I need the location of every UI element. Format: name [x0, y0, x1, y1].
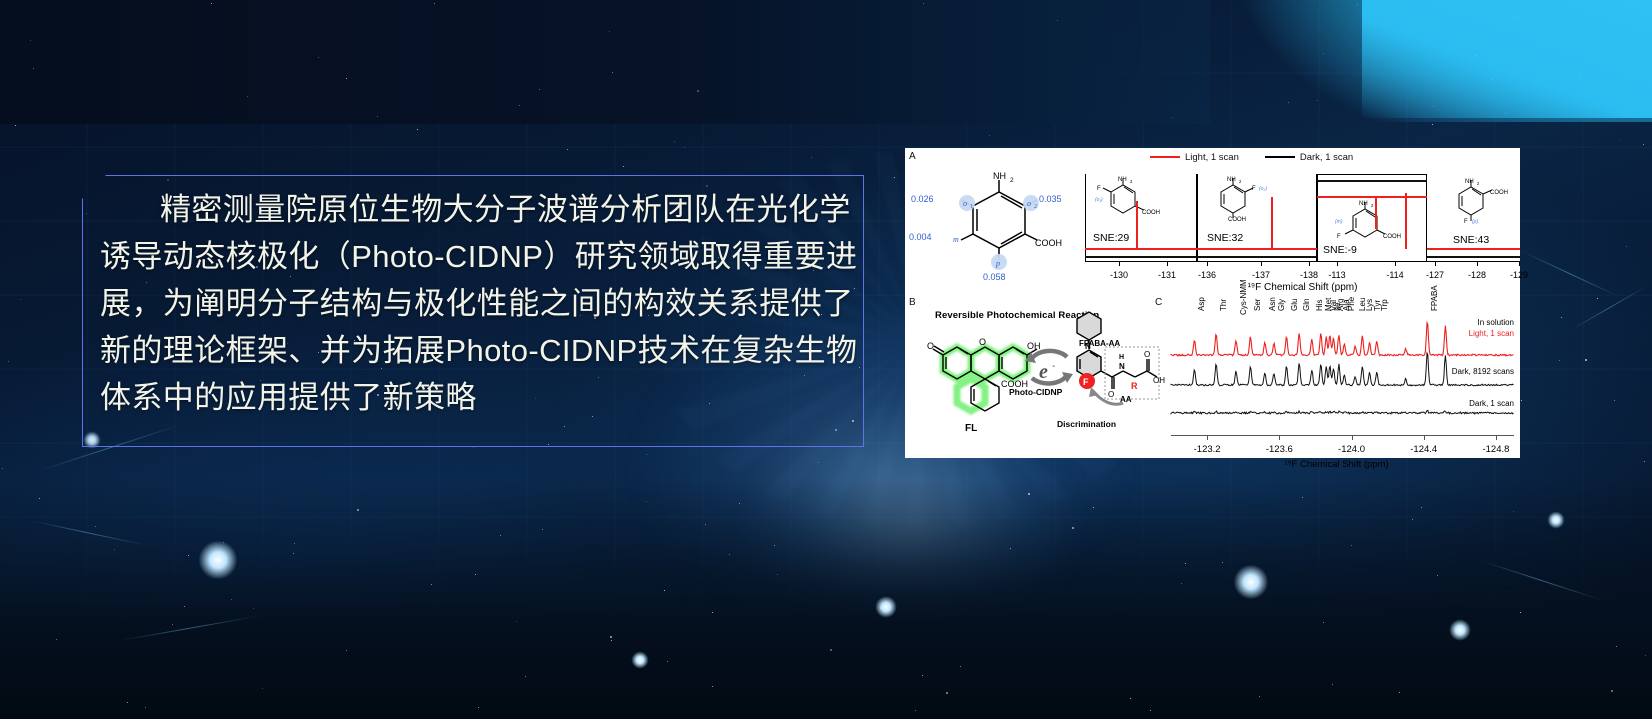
glow-star — [871, 592, 901, 622]
svg-text:2: 2 — [1034, 204, 1037, 210]
svg-text:O: O — [1144, 350, 1150, 359]
c-tick-label-3: -124.4 — [1410, 444, 1437, 455]
star — [516, 621, 517, 622]
star — [56, 639, 57, 640]
star — [1645, 655, 1646, 656]
glow-star — [1445, 615, 1475, 645]
star — [33, 68, 34, 69]
star — [697, 90, 699, 92]
star — [1010, 548, 1011, 549]
star — [431, 584, 432, 585]
star — [811, 157, 812, 158]
svg-text:2: 2 — [1239, 179, 1242, 184]
star — [1259, 696, 1260, 697]
star — [667, 661, 668, 662]
star — [623, 166, 624, 167]
star — [127, 702, 128, 703]
sne-value-o2: SNE:32 — [1207, 232, 1243, 244]
fl-label: FL — [965, 423, 977, 434]
star — [705, 524, 706, 525]
svg-text:(o₁): (o₁) — [1095, 197, 1103, 203]
tick-p-2: -129 — [1510, 270, 1528, 280]
star — [346, 650, 347, 651]
star — [712, 686, 713, 687]
fpaba-aa-molecule: N O N H O OH F R — [1065, 307, 1161, 427]
network-line — [30, 520, 148, 546]
svg-text:o: o — [1027, 199, 1031, 208]
star — [1614, 400, 1615, 401]
star — [262, 688, 263, 689]
tick-p-0: -127 — [1426, 270, 1444, 280]
star — [211, 3, 212, 4]
star — [1513, 511, 1514, 512]
star — [1475, 55, 1476, 56]
star — [674, 141, 675, 142]
glow-star — [191, 533, 245, 587]
page-title: 精密测量院原位生物大分子波谱分析团队在光化学诱导动态核极化（Photo-CIDN… — [100, 186, 860, 421]
panel-c-axis — [1171, 435, 1514, 436]
star — [610, 636, 612, 638]
trace-dark-1scan — [1171, 410, 1513, 414]
svg-text:COOH: COOH — [1035, 238, 1062, 248]
svg-text:2: 2 — [1130, 179, 1133, 184]
network-line — [1520, 250, 1620, 297]
hyperfine-o2: 0.035 — [1039, 194, 1062, 204]
star — [684, 147, 685, 148]
glow-star — [628, 648, 652, 672]
star — [39, 498, 40, 499]
star — [1433, 106, 1434, 107]
svg-text:(m): (m) — [1335, 219, 1343, 225]
star — [989, 135, 990, 136]
svg-text:e: e — [1039, 361, 1048, 383]
star — [567, 149, 568, 150]
star — [1561, 317, 1562, 318]
star — [1351, 545, 1352, 546]
star — [712, 612, 713, 613]
legend-dark: Dark, 1 scan — [1265, 152, 1353, 163]
star — [818, 462, 819, 463]
hyperfine-o1: 0.026 — [911, 194, 934, 204]
star — [1222, 562, 1223, 563]
legend-dark-swatch — [1265, 156, 1295, 158]
star — [478, 707, 479, 708]
svg-text:O: O — [1108, 390, 1114, 399]
star — [1323, 53, 1324, 54]
sne-value-o1: SNE:29 — [1093, 232, 1129, 244]
network-line — [1480, 560, 1604, 601]
star — [346, 78, 347, 79]
star — [922, 675, 923, 676]
panel-c: C AspThrCys-NMMSerAsnGlyGluGlnHisMetValI… — [1153, 295, 1520, 458]
star — [1130, 698, 1131, 699]
fpaba-aa-label: FPABA-AA — [1079, 339, 1120, 348]
svg-text:H: H — [1119, 354, 1124, 361]
glow-star — [1227, 558, 1275, 606]
star — [1332, 684, 1333, 685]
photo-cidnp-label: Photo-CIDNP — [1009, 387, 1062, 397]
spectrum-o1: NH2 F (o₁) COOH SNE:29 -130 -131 — [1085, 174, 1197, 280]
star — [646, 454, 647, 455]
star — [739, 503, 740, 504]
figure-panel: A Light, 1 scan Dark, 1 scan — [905, 148, 1520, 458]
star — [664, 590, 665, 591]
svg-text:R: R — [1131, 381, 1138, 391]
panel-a: A Light, 1 scan Dark, 1 scan — [905, 148, 1520, 295]
star — [15, 125, 16, 126]
star — [1399, 692, 1400, 693]
star — [172, 624, 173, 625]
c-tick-label-4: -124.8 — [1482, 444, 1509, 455]
star — [188, 555, 189, 556]
star — [184, 606, 185, 607]
tick-o1-1: -131 — [1158, 270, 1176, 280]
panel-c-label: C — [1155, 297, 1162, 308]
star — [830, 649, 832, 651]
panel-c-axis-title: ¹⁹F Chemical Shift (ppm) — [1153, 459, 1520, 470]
sne-value-p: SNE:43 — [1453, 234, 1489, 246]
star — [231, 599, 232, 600]
star — [475, 574, 476, 575]
c-tick-label-2: -124.0 — [1338, 444, 1365, 455]
spectrum-m: NH2 (m) F COOH SNE:-9 -113 -114 — [1317, 174, 1427, 280]
glow-star — [1544, 508, 1568, 532]
svg-text:NH: NH — [1227, 177, 1236, 183]
svg-text:-: - — [1052, 361, 1055, 372]
tick-m-1: -114 — [1386, 270, 1403, 280]
network-line — [120, 616, 258, 641]
star — [1072, 527, 1074, 529]
svg-text:2: 2 — [1477, 181, 1480, 186]
svg-text:O: O — [927, 341, 934, 351]
star — [1580, 74, 1581, 75]
star — [1514, 16, 1515, 17]
star — [357, 509, 359, 511]
star — [20, 299, 21, 300]
legend-light-1scan: Light, 1 scan — [1469, 328, 1514, 339]
trace-light-1scan — [1171, 323, 1513, 356]
star — [1437, 575, 1438, 576]
svg-text:COOH: COOH — [1490, 190, 1508, 196]
hyperfine-p: 0.058 — [983, 272, 1006, 282]
star — [8, 361, 9, 362]
star — [542, 529, 543, 530]
star — [777, 574, 778, 575]
c-tick-label-1: -123.6 — [1266, 444, 1293, 455]
star — [473, 447, 474, 448]
star — [253, 608, 254, 609]
spectrum-o2: NH2 F (o₂) COOH SNE:32 -136 -137 -138 — [1197, 174, 1317, 280]
aa-label: AA — [1120, 395, 1132, 404]
panel-b-label: B — [909, 297, 916, 308]
c-tick-2 — [1352, 435, 1353, 440]
legend-dark-label: Dark, 1 scan — [1300, 152, 1353, 163]
star — [1317, 100, 1318, 101]
star — [1559, 360, 1560, 361]
star — [1492, 79, 1493, 80]
star — [2, 468, 3, 469]
svg-text:(p): (p) — [1472, 219, 1478, 225]
star — [1323, 622, 1324, 623]
spectrum-p: NH2 COOH F (p) SNE:43 -127 -128 -129 — [1427, 174, 1520, 280]
star — [1302, 497, 1303, 498]
tick-o1-0: -130 — [1110, 270, 1128, 280]
legend-light: Light, 1 scan — [1150, 152, 1239, 163]
svg-text:F: F — [1097, 186, 1101, 192]
svg-text:NH: NH — [993, 171, 1006, 181]
star — [1520, 612, 1521, 613]
star — [1093, 507, 1094, 508]
c-tick-1 — [1279, 435, 1280, 440]
svg-text:NH: NH — [1465, 179, 1474, 185]
banner-stage: 精密测量院原位生物大分子波谱分析团队在光化学诱导动态核极化（Photo-CIDN… — [0, 0, 1652, 719]
panel-a-legend: Light, 1 scan Dark, 1 scan — [1150, 152, 1353, 163]
c-tick-3 — [1424, 435, 1425, 440]
tick-p-1: -128 — [1468, 270, 1486, 280]
c-tick-0 — [1207, 435, 1208, 440]
star — [1644, 461, 1645, 462]
sne-value-m: SNE:-9 — [1323, 244, 1357, 256]
star — [612, 72, 613, 73]
star — [1181, 583, 1182, 584]
star — [1028, 493, 1030, 495]
star — [1611, 690, 1613, 692]
star — [1412, 519, 1413, 520]
legend-dark-1scan: Dark, 1 scan — [1469, 399, 1514, 408]
star — [946, 692, 948, 694]
star — [611, 640, 612, 641]
star — [293, 553, 294, 554]
star — [377, 116, 378, 117]
star — [145, 707, 146, 708]
svg-text:(o₂): (o₂) — [1259, 186, 1267, 192]
svg-text:o: o — [963, 199, 967, 208]
panel-c-legend: In solution Light, 1 scan — [1469, 317, 1514, 339]
star — [500, 535, 501, 536]
hyperfine-m: 0.004 — [909, 232, 932, 242]
legend-dark-8192: Dark, 8192 scans — [1452, 367, 1514, 376]
tick-o2-0: -136 — [1198, 270, 1216, 280]
star — [1150, 710, 1151, 711]
svg-text:p: p — [995, 259, 1000, 268]
svg-text:O: O — [979, 337, 986, 347]
star — [434, 3, 435, 4]
c-tick-label-0: -123.2 — [1194, 444, 1221, 455]
svg-text:COOH: COOH — [1228, 217, 1246, 223]
star — [894, 177, 895, 178]
star — [1597, 298, 1598, 299]
svg-text:F: F — [1337, 234, 1341, 240]
star — [609, 31, 610, 32]
star — [30, 40, 31, 41]
star — [960, 666, 961, 667]
star — [1057, 20, 1058, 21]
star — [1432, 124, 1433, 125]
star — [539, 89, 540, 90]
star — [1172, 117, 1173, 118]
star — [1521, 400, 1522, 401]
aminobenzoic-molecule: NH 2 COOH o 1 o 2 m p 0.026 0.035 0.004 … — [925, 170, 1075, 282]
star — [294, 543, 295, 544]
star — [774, 545, 775, 546]
panel-a-axis-title: ¹⁹F Chemical Shift (ppm) — [1085, 282, 1520, 293]
tick-o2-2: -138 — [1300, 270, 1318, 280]
star — [1619, 140, 1620, 141]
star — [318, 57, 319, 58]
star — [646, 501, 647, 502]
svg-text:F: F — [1464, 219, 1468, 225]
panel-b: B Reversible Photochemical Reaction — [905, 295, 1153, 458]
legend-light-swatch — [1150, 156, 1180, 158]
panel-a-label: A — [909, 151, 916, 162]
star — [729, 554, 730, 555]
svg-text:NH: NH — [1118, 177, 1127, 183]
svg-text:N: N — [1119, 362, 1125, 371]
svg-text:NH: NH — [1359, 201, 1368, 207]
star — [1616, 646, 1617, 647]
c-tick-4 — [1496, 435, 1497, 440]
tick-o2-1: -137 — [1252, 270, 1270, 280]
star — [1626, 246, 1627, 247]
star — [915, 710, 916, 711]
discrimination-label: Discrimination — [1057, 419, 1116, 429]
svg-text:F: F — [1083, 377, 1089, 387]
fluorescein-molecule: O O OH COOH — [927, 327, 1035, 423]
star — [417, 129, 418, 130]
svg-text:COOH: COOH — [1383, 234, 1401, 240]
star — [525, 676, 526, 677]
svg-text:COOH: COOH — [1142, 210, 1160, 216]
svg-text:m: m — [953, 235, 959, 244]
tick-m-0: -113 — [1328, 270, 1345, 280]
star — [1357, 4, 1358, 5]
star — [1505, 113, 1506, 114]
svg-text:1: 1 — [970, 204, 973, 210]
star — [1585, 359, 1587, 361]
svg-text:F: F — [1252, 186, 1256, 192]
star — [1421, 507, 1422, 508]
legend-in-solution: In solution — [1469, 317, 1514, 328]
star — [1643, 144, 1644, 145]
star — [1185, 563, 1186, 564]
legend-light-label: Light, 1 scan — [1185, 152, 1239, 163]
star — [519, 105, 520, 106]
star — [1288, 102, 1289, 103]
star — [95, 526, 96, 527]
star — [923, 3, 924, 4]
star — [114, 549, 115, 550]
svg-text:2: 2 — [1010, 177, 1014, 184]
star — [247, 96, 248, 97]
svg-text:2: 2 — [1371, 203, 1374, 208]
